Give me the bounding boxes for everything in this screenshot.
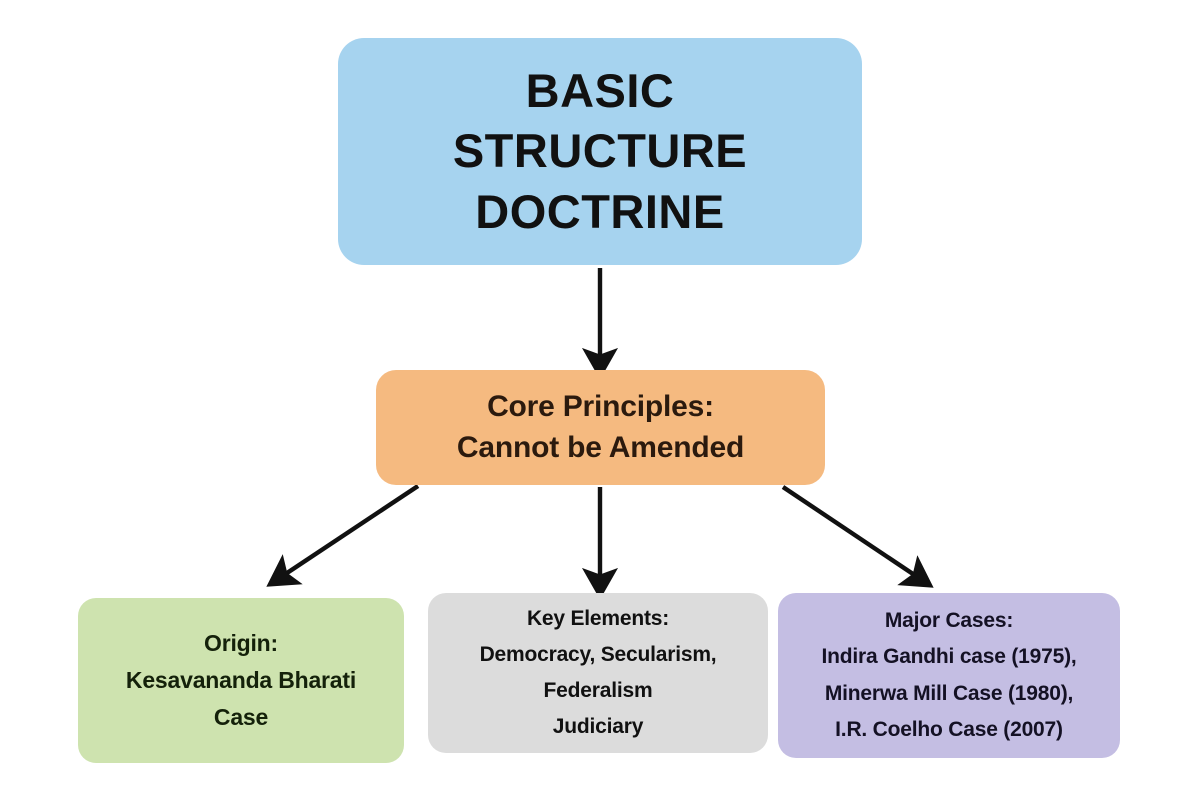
node-core-principles[interactable]: Core Principles: Cannot be Amended: [376, 370, 825, 485]
edge-core-to-major-cases: [783, 487, 919, 578]
node-core-line-1: Core Principles:: [487, 387, 714, 428]
node-major-cases-line-2: Indira Gandhi case (1975),: [821, 639, 1076, 675]
node-major-cases-line-4: I.R. Coelho Case (2007): [835, 712, 1063, 748]
node-root-line-3: DOCTRINE: [475, 182, 724, 243]
node-key-elements[interactable]: Key Elements: Democracy, Secularism, Fed…: [428, 593, 768, 753]
node-root-line-1: BASIC: [526, 61, 675, 122]
node-origin-line-2: Kesavananda Bharati: [126, 662, 356, 699]
node-major-cases[interactable]: Major Cases: Indira Gandhi case (1975), …: [778, 593, 1120, 758]
node-root-line-2: STRUCTURE: [453, 121, 747, 182]
node-basic-structure-doctrine[interactable]: BASIC STRUCTURE DOCTRINE: [338, 38, 862, 265]
node-key-elements-line-4: Judiciary: [553, 709, 643, 745]
edge-core-to-origin: [281, 486, 418, 577]
node-origin-line-3: Case: [214, 699, 268, 736]
node-major-cases-line-1: Major Cases:: [885, 603, 1013, 639]
node-major-cases-line-3: Minerwa Mill Case (1980),: [825, 676, 1073, 712]
node-core-line-2: Cannot be Amended: [457, 428, 744, 469]
node-key-elements-line-3: Federalism: [544, 673, 653, 709]
node-key-elements-line-1: Key Elements:: [527, 601, 669, 637]
flowchart-diagram: BASIC STRUCTURE DOCTRINE Core Principles…: [0, 0, 1200, 800]
node-origin[interactable]: Origin: Kesavananda Bharati Case: [78, 598, 404, 763]
node-key-elements-line-2: Democracy, Secularism,: [480, 637, 717, 673]
node-origin-line-1: Origin:: [204, 625, 278, 662]
